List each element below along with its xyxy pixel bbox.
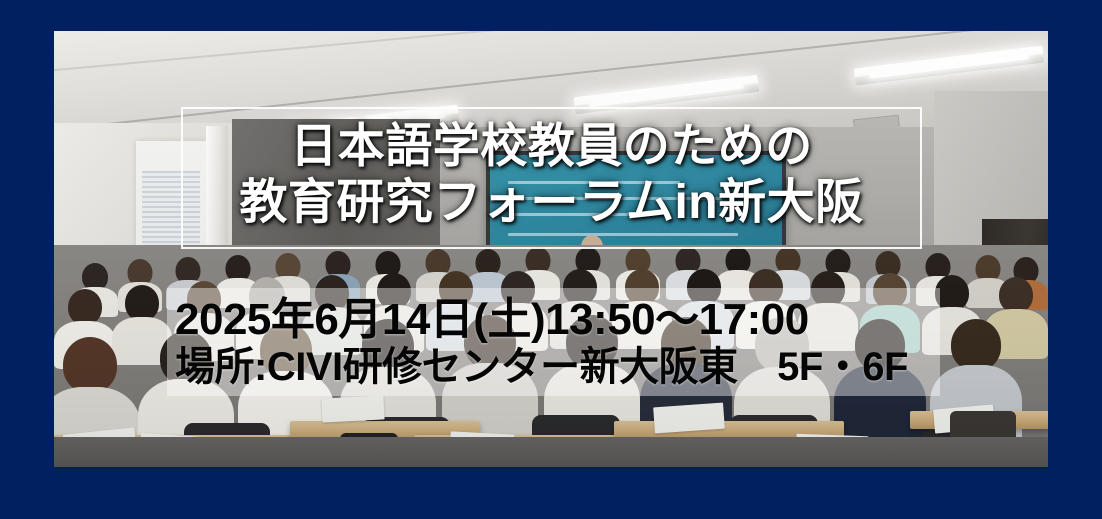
event-venue: 場所:CIVI研修センター新大阪東 5F・6F bbox=[175, 345, 940, 391]
event-banner: 日本語学校教員のための 教育研究フォーラムin新大阪 2025年6月14日(土)… bbox=[0, 0, 1102, 519]
handout-paper bbox=[653, 403, 725, 434]
handout-paper bbox=[321, 395, 384, 422]
floor bbox=[54, 437, 1048, 467]
info-block: 2025年6月14日(土)13:50〜17:00 場所:CIVI研修センター新大… bbox=[175, 290, 940, 396]
title-line-1: 日本語学校教員のための bbox=[290, 119, 813, 174]
title-line-2: 教育研究フォーラムin新大阪 bbox=[239, 175, 863, 231]
event-datetime: 2025年6月14日(土)13:50〜17:00 bbox=[175, 295, 940, 345]
title-block: 日本語学校教員のための 教育研究フォーラムin新大阪 bbox=[181, 100, 922, 250]
